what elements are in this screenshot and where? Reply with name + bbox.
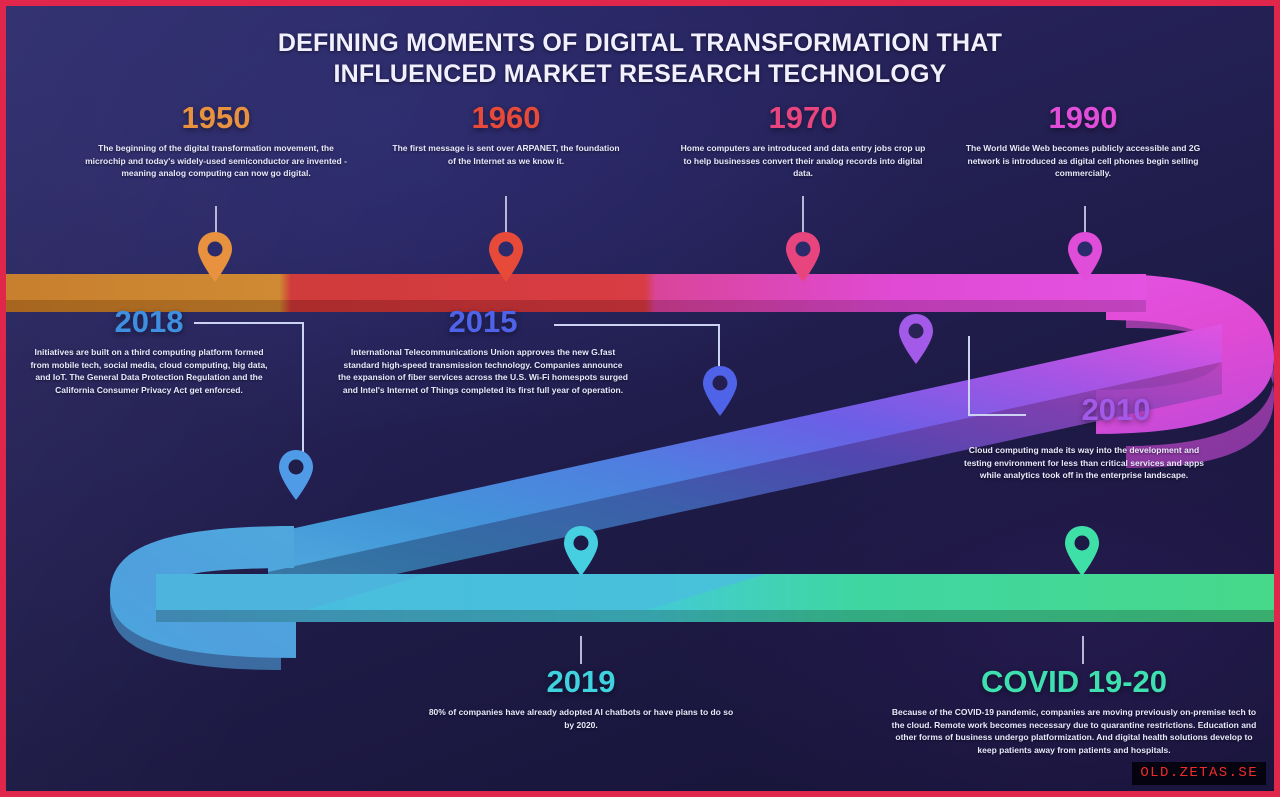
infographic-canvas: DEFINING MOMENTS OF DIGITAL TRANSFORMATI… (6, 6, 1274, 791)
event-1960-year: 1960 (388, 102, 624, 133)
pin-1950[interactable] (195, 230, 235, 284)
event-2019[interactable]: 2019 80% of companies have already adopt… (426, 666, 736, 731)
event-1970[interactable]: 1970 Home computers are introduced and d… (676, 102, 930, 180)
pin-1970[interactable] (783, 230, 823, 284)
event-1950[interactable]: 1950 The beginning of the digital transf… (81, 102, 351, 180)
event-1950-year: 1950 (81, 102, 351, 133)
pin-2015[interactable] (700, 364, 740, 418)
event-1990[interactable]: 1990 The World Wide Web becomes publicly… (956, 102, 1210, 180)
event-2015[interactable]: 2015 International Telecommunications Un… (338, 306, 628, 396)
event-covid-body: Because of the COVID-19 pandemic, compan… (886, 706, 1262, 756)
event-1990-year: 1990 (956, 102, 1210, 133)
pin-2019[interactable] (561, 524, 601, 578)
event-2010-body: Cloud computing made its way into the de… (956, 444, 1212, 482)
event-1970-year: 1970 (676, 102, 930, 133)
watermark: OLD.ZETAS.SE (1132, 762, 1266, 785)
event-2018[interactable]: 2018 Initiatives are built on a third co… (24, 306, 274, 396)
event-1970-body: Home computers are introduced and data e… (676, 142, 930, 180)
pin-covid[interactable] (1062, 524, 1102, 578)
event-2018-body: Initiatives are built on a third computi… (24, 346, 274, 396)
title-line-1: DEFINING MOMENTS OF DIGITAL TRANSFORMATI… (6, 28, 1274, 59)
event-2010[interactable]: 2010 Cloud computing made its way into t… (956, 394, 1212, 482)
pin-2018[interactable] (276, 448, 316, 502)
event-2019-year: 2019 (426, 666, 736, 697)
page-title: DEFINING MOMENTS OF DIGITAL TRANSFORMATI… (6, 28, 1274, 91)
event-1950-body: The beginning of the digital transformat… (81, 142, 351, 180)
event-2015-body: International Telecommunications Union a… (338, 346, 628, 396)
title-line-2: INFLUENCED MARKET RESEARCH TECHNOLOGY (6, 59, 1274, 90)
pin-2010[interactable] (896, 312, 936, 366)
event-2019-body: 80% of companies have already adopted AI… (426, 706, 736, 731)
connector-2019 (580, 636, 582, 664)
connector-covid (1082, 636, 1084, 664)
event-2010-year: 2010 (1082, 394, 1151, 425)
event-2015-year: 2015 (338, 306, 628, 337)
event-1960-body: The first message is sent over ARPANET, … (388, 142, 624, 167)
event-covid[interactable]: COVID 19-20 Because of the COVID-19 pand… (886, 666, 1262, 756)
pin-1990[interactable] (1065, 230, 1105, 284)
event-2018-year: 2018 (24, 306, 274, 337)
event-covid-year: COVID 19-20 (886, 666, 1262, 697)
pin-1960[interactable] (486, 230, 526, 284)
event-1960[interactable]: 1960 The first message is sent over ARPA… (388, 102, 624, 167)
event-1990-body: The World Wide Web becomes publicly acce… (956, 142, 1210, 180)
